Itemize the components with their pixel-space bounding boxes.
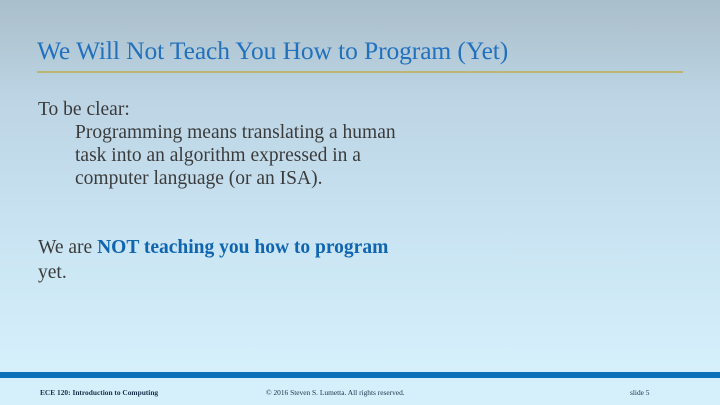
slide-closing-statement: We are NOT teaching you how to program y… [38,235,598,285]
closing-prefix-text: We are [38,237,97,258]
body-definition-line-2: task into an algorithm expressed in a [38,144,598,167]
body-intro-line: To be clear: [38,98,598,121]
slide-body: To be clear: Programming means translati… [38,98,598,190]
closing-emphasis-text: NOT teaching you how to program [97,237,388,258]
title-divider-rule [37,71,683,73]
footer-copyright-label: © 2016 Steven S. Lumetta. All rights res… [266,388,405,398]
closing-suffix-text: yet. [38,262,67,283]
presentation-slide: We Will Not Teach You How to Program (Ye… [0,0,720,405]
page-title: We Will Not Teach You How to Program (Ye… [37,36,685,66]
footer-slide-number: slide 5 [630,388,650,398]
slide-title-area: We Will Not Teach You How to Program (Ye… [37,36,685,66]
body-definition-line-3: computer language (or an ISA). [38,167,598,190]
body-definition-line-1: Programming means translating a human [38,121,598,144]
footer-course-label: ECE 120: Introduction to Computing [40,388,158,398]
